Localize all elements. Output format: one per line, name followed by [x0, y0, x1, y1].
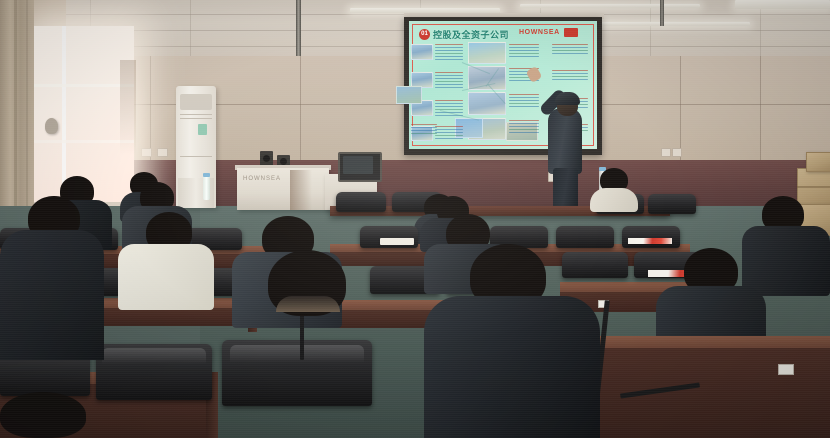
- presenter-cap: [555, 92, 580, 105]
- slide-thumb: [396, 86, 422, 104]
- window-frame-horizontal: [34, 84, 134, 87]
- slide-title: 控股及全资子公司: [433, 28, 509, 41]
- audience-body: [590, 188, 638, 212]
- presenter-legs: [553, 168, 578, 210]
- slide-text-block: [509, 120, 539, 135]
- presenter-body: [548, 108, 582, 174]
- slide-badge: 01: [419, 29, 430, 40]
- slide-text-block: [552, 70, 588, 82]
- slide-text-block: [552, 44, 588, 56]
- bottle-cap-icon: [203, 173, 210, 177]
- audience-collar: [276, 296, 340, 312]
- box-tape: [797, 186, 830, 188]
- chair[interactable]: [96, 344, 212, 400]
- lectern-shadow: [290, 170, 312, 210]
- monitor-screen: [343, 156, 373, 174]
- cardboard-box: [806, 152, 830, 172]
- audience-body: [424, 296, 600, 438]
- wall-socket-right-2: [672, 148, 682, 157]
- ac-grill-icon: [180, 94, 212, 110]
- ac-label: [198, 124, 207, 135]
- slide-thumb: [468, 92, 506, 115]
- chair[interactable]: [336, 192, 386, 212]
- slide-text-block: [509, 44, 539, 59]
- brand-logo-text: HOWNSEA: [519, 29, 560, 36]
- desk-paper[interactable]: [380, 238, 414, 245]
- wall-speaker-icon: [45, 118, 58, 134]
- slide-text-block: [435, 126, 463, 141]
- lectern-label: HOWNSEA: [243, 176, 281, 182]
- wall-socket-right: [661, 148, 671, 157]
- slide-text-block: [435, 72, 463, 90]
- audience-body: [214, 300, 394, 438]
- slide-text-block: [411, 124, 437, 136]
- meeting-room-photo: 01 控股及全资子公司 HOWNSEA: [0, 0, 830, 438]
- audience-body: [742, 226, 830, 296]
- audience-hair: [0, 392, 86, 438]
- wall-stain: [120, 60, 136, 155]
- water-bottle[interactable]: [203, 176, 210, 200]
- chair[interactable]: [562, 252, 628, 278]
- audience-body: [118, 244, 214, 310]
- chair[interactable]: [622, 226, 680, 248]
- audience-body: [0, 230, 104, 360]
- desk-tag: [778, 364, 794, 375]
- slide-thumb: [411, 44, 433, 60]
- window-frame-horizontal-2: [34, 140, 134, 143]
- slide-text-block: [435, 44, 463, 62]
- chair[interactable]: [556, 226, 614, 248]
- brand-mark-icon: [564, 28, 578, 37]
- slide-text-block: [509, 94, 539, 109]
- slide-thumb: [468, 42, 506, 64]
- wall-socket-left-2: [157, 148, 168, 157]
- lectern[interactable]: [237, 168, 329, 210]
- chair[interactable]: [648, 194, 696, 214]
- desk-paper[interactable]: [628, 238, 672, 244]
- secondary-ceiling-mount: [660, 0, 664, 26]
